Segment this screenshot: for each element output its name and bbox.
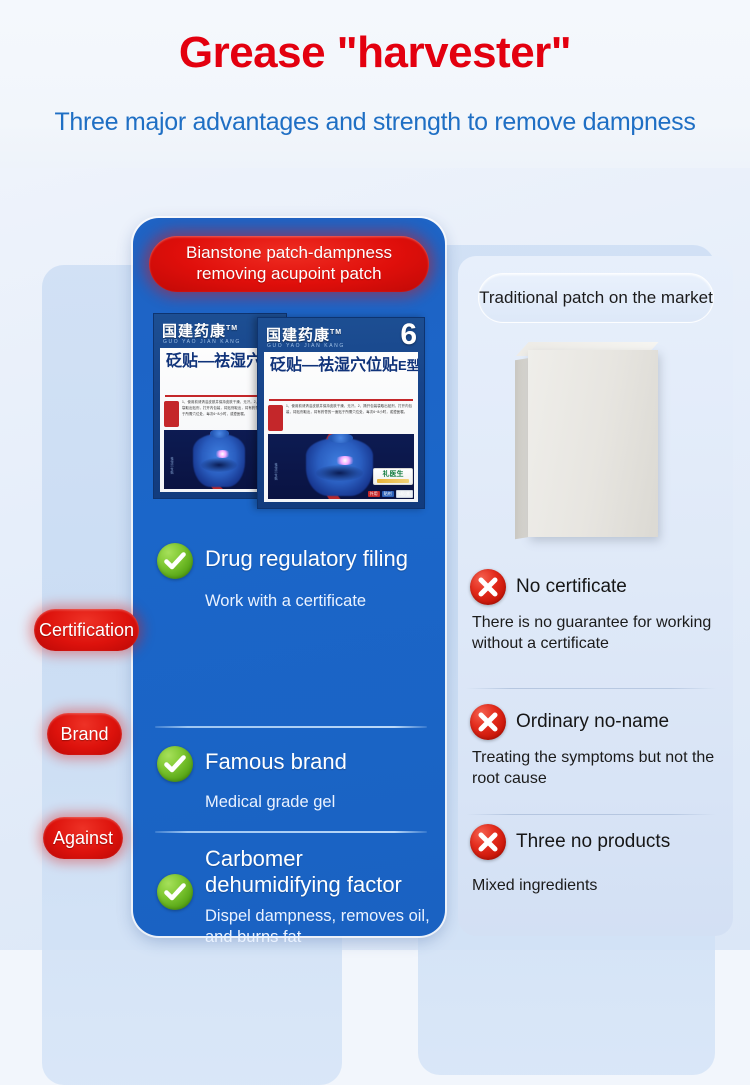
acupoint-glow xyxy=(214,450,231,458)
package-tag-form: 贴剂 xyxy=(382,491,394,497)
advantage-subtitle: Work with a certificate xyxy=(205,591,429,612)
package-front-usage-tag xyxy=(268,405,283,431)
traditional-card: Traditional patch on the market No certi… xyxy=(458,256,733,936)
category-pill-against: Against xyxy=(43,817,123,859)
product-card: Bianstone patch-dampness removing acupoi… xyxy=(133,218,445,936)
package-logo: 礼医生 xyxy=(373,468,413,485)
package-logo-text: 礼医生 xyxy=(383,471,404,478)
x-circle-icon xyxy=(470,569,506,605)
check-circle-icon xyxy=(157,874,193,910)
drawback-subtitle: Treating the symptoms but not the root c… xyxy=(472,748,728,790)
check-circle-icon xyxy=(157,746,193,782)
advantage-subtitle: Medical grade gel xyxy=(205,792,429,813)
plain-package-photo xyxy=(515,342,658,537)
package-brand-pinyin: GUO YAO JIAN KANG xyxy=(163,339,241,345)
drawback-subtitle: Mixed ingredients xyxy=(472,876,728,897)
package-side-text: 祛湿穴位贴 xyxy=(167,457,174,475)
package-front-side-text: 祛湿穴位贴 xyxy=(271,463,278,481)
package-front: 国建药康TM GUO YAO JIAN KANG 6 砭贴—祛湿穴位贴E型 1、… xyxy=(257,317,425,509)
package-front-instructions: 1、使用前请清洁皮肤并保持皮肤干燥、无汗。2、撕开包装袋取出贴剂，打开内包装，将… xyxy=(286,404,414,416)
page-subtitle: Three major advantages and strength to r… xyxy=(0,108,750,137)
package-front-brand-pinyin: GUO YAO JIAN KANG xyxy=(267,343,345,349)
drawback-title: No certificate xyxy=(516,576,728,599)
plain-package-face xyxy=(528,350,658,537)
package-tag-group: 外用 贴剂 6贴/盒 xyxy=(368,490,413,498)
category-pill-certification: Certification xyxy=(34,609,139,651)
package-brand-cn: 国建药康TM xyxy=(162,320,238,341)
category-pill-brand: Brand xyxy=(47,713,122,755)
traditional-label: Traditional patch on the market xyxy=(478,273,714,323)
package-front-label: 砭贴—祛湿穴位贴E型 1、使用前请清洁皮肤并保持皮肤干燥、无汗。2、撕开包装袋取… xyxy=(264,352,418,502)
right-divider-1 xyxy=(466,688,716,689)
page-title: Grease "harvester" xyxy=(0,28,750,78)
advantage-subtitle: Dispel dampness, removes oil, and burns … xyxy=(205,906,435,947)
package-usage-tag xyxy=(164,401,179,427)
advantage-title: Famous brand xyxy=(205,749,429,775)
package-tag-qty: 6贴/盒 xyxy=(396,490,413,498)
right-divider-2 xyxy=(466,814,716,815)
x-circle-icon xyxy=(470,824,506,860)
package-tag-usage: 外用 xyxy=(368,491,380,497)
x-circle-icon xyxy=(470,704,506,740)
advantage-title: Carbomer dehumidifying factor xyxy=(205,846,433,898)
package-logo-bar xyxy=(377,479,409,483)
plain-package-side xyxy=(515,358,529,539)
product-badge-label: Bianstone patch-dampness removing acupoi… xyxy=(149,243,429,284)
page-header: Grease "harvester" Three major advantage… xyxy=(0,0,750,168)
comparison-stage: Bianstone patch-dampness removing acupoi… xyxy=(0,168,750,950)
package-front-product-name: 砭贴—祛湿穴位贴E型 xyxy=(270,357,414,375)
package-front-rule xyxy=(269,399,413,401)
row-divider-2 xyxy=(155,831,427,833)
drawback-title: Three no products xyxy=(516,831,728,854)
check-circle-icon xyxy=(157,543,193,579)
advantage-title: Drug regulatory filing xyxy=(205,546,429,572)
package-count-badge: 6 xyxy=(400,320,417,350)
row-divider-1 xyxy=(155,726,427,728)
drawback-title: Ordinary no-name xyxy=(516,711,728,734)
torso-belly-front xyxy=(316,465,363,481)
product-badge: Bianstone patch-dampness removing acupoi… xyxy=(149,236,429,292)
package-front-brand-cn: 国建药康TM xyxy=(266,324,342,345)
acupoint-glow-front xyxy=(334,456,356,464)
product-package-photo: 国建药康TM GUO YAO JIAN KANG 砭贴—祛湿穴位贴 1、使用前请… xyxy=(153,313,425,511)
drawback-subtitle: There is no guarantee for working withou… xyxy=(472,613,728,655)
traditional-label-text: Traditional patch on the market xyxy=(479,287,713,308)
